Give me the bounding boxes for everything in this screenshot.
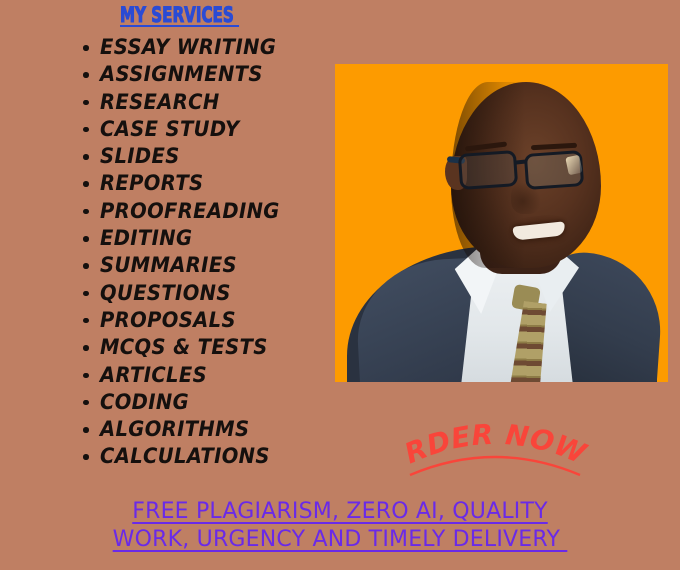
service-label: MCQS & TESTS [100,334,268,361]
service-label: PROPOSALS [100,307,236,334]
service-label: ASSIGNMENTS [100,61,263,88]
service-label: PROOFREADING [100,198,280,225]
list-item: ESSAY WRITING [82,34,372,61]
service-label: REPORTS [100,170,203,197]
bullet-icon [83,154,89,160]
tagline: FREE PLAGIARISM, ZERO AI, QUALITY WORK, … [0,498,680,554]
list-item: EDITING [82,225,372,252]
list-item: SLIDES [82,143,372,170]
services-list: ESSAY WRITING ASSIGNMENTS RESEARCH CASE … [82,34,372,471]
list-item: ALGORITHMS [82,416,372,443]
service-label: EDITING [100,225,192,252]
service-label: CODING [100,389,189,416]
list-item: MCQS & TESTS [82,334,372,361]
bullet-icon [83,127,89,133]
list-item: CODING [82,389,372,416]
list-item: CASE STUDY [82,116,372,143]
bullet-icon [83,291,89,297]
bullet-icon [83,45,89,51]
service-label: ALGORITHMS [100,416,249,443]
service-label: RESEARCH [100,89,220,116]
list-item: SUMMARIES [82,252,372,279]
bullet-icon [83,427,89,433]
list-item: RESEARCH [82,89,372,116]
service-label: ESSAY WRITING [100,34,276,61]
portrait-image [335,64,668,382]
tagline-line-2: WORK, URGENCY AND TIMELY DELIVERY [0,526,680,554]
service-label: QUESTIONS [100,280,231,307]
list-item: QUESTIONS [82,280,372,307]
services-banner: MY SERVICES ESSAY WRITING ASSIGNMENTS RE… [0,0,680,570]
service-label: CASE STUDY [100,116,239,143]
list-item: PROPOSALS [82,307,372,334]
list-item: CALCULATIONS [82,443,372,470]
service-label: ARTICLES [100,362,207,389]
bullet-icon [83,318,89,324]
bullet-icon [83,181,89,187]
portrait-photo-panel [335,64,668,382]
tagline-line-1: FREE PLAGIARISM, ZERO AI, QUALITY [0,498,680,526]
bullet-icon [83,400,89,406]
list-item: ASSIGNMENTS [82,61,372,88]
bullet-icon [83,373,89,379]
service-label: SUMMARIES [100,252,237,279]
service-label: SLIDES [100,143,180,170]
list-item: ARTICLES [82,362,372,389]
bullet-icon [83,263,89,269]
list-item: REPORTS [82,170,372,197]
bullet-icon [83,72,89,78]
list-item: PROOFREADING [82,198,372,225]
bullet-icon [83,345,89,351]
service-label: CALCULATIONS [100,443,270,470]
bullet-icon [83,454,89,460]
order-now-cta[interactable]: ORDER NOW ! [400,415,590,477]
bullet-icon [83,100,89,106]
page-title: MY SERVICES [120,4,239,26]
bullet-icon [83,209,89,215]
bullet-icon [83,236,89,242]
order-now-label: ORDER NOW ! [388,389,602,475]
glasses-lens-left [458,150,518,190]
nose-shape [511,182,541,214]
